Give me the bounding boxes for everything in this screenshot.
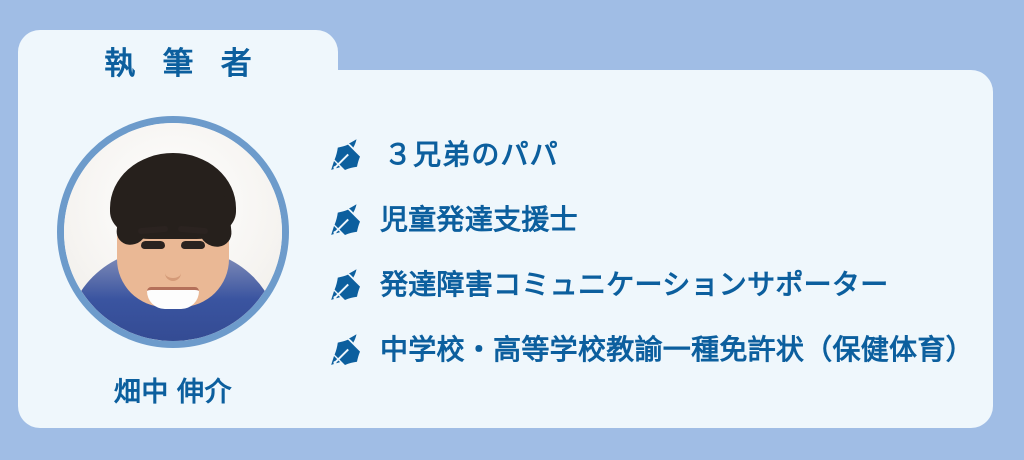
credential-label: 児童発達支援士 <box>380 206 578 234</box>
list-item: 発達障害コミュニケーションサポーター <box>326 252 986 317</box>
fountain-pen-nib-icon <box>326 330 366 370</box>
avatar <box>57 116 289 348</box>
avatar-eye-left <box>141 241 165 249</box>
fountain-pen-nib-icon <box>326 135 366 175</box>
author-profile-banner: 執 筆 者 畑中 伸介 <box>0 0 1024 460</box>
credential-label: 中学校・高等学校教諭一種免許状（保健体育） <box>380 336 974 364</box>
credential-list: ３兄弟のパパ 児童発達支援士 発達障害コミュニケーションサポーター <box>326 122 986 382</box>
fountain-pen-nib-icon <box>326 265 366 305</box>
page-title: 執 筆 者 <box>18 42 338 86</box>
fountain-pen-nib-icon <box>326 200 366 240</box>
avatar-nose <box>165 263 181 281</box>
author-profile: 畑中 伸介 <box>57 116 289 409</box>
list-item: 中学校・高等学校教諭一種免許状（保健体育） <box>326 317 986 382</box>
credential-label: ３兄弟のパパ <box>384 141 559 169</box>
list-item: ３兄弟のパパ <box>326 122 986 187</box>
author-name: 畑中 伸介 <box>57 370 289 409</box>
credential-label: 発達障害コミュニケーションサポーター <box>380 271 888 299</box>
list-item: 児童発達支援士 <box>326 187 986 252</box>
avatar-mouth <box>147 287 199 309</box>
avatar-eye-right <box>181 241 205 249</box>
